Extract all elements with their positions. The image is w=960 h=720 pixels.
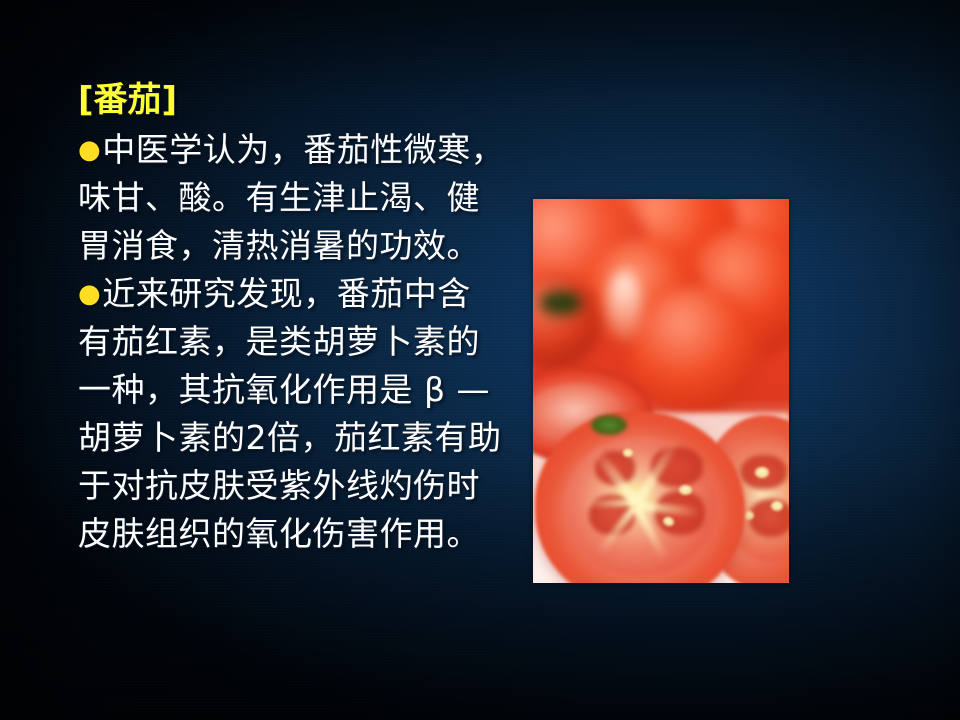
paragraph-1: ●中医学认为，番茄性微寒， 味甘、酸。有生津止渴、健 胃消食，清热消暑的功效。 xyxy=(78,126,498,270)
bullet-icon: ● xyxy=(78,279,101,309)
paragraph-2: ●近来研究发现，番茄中含 有茄红素，是类胡萝卜素的 一种，其抗氧化作用是 β —… xyxy=(78,270,498,558)
paragraph-2-line-1-text: 近来研究发现，番茄中含 xyxy=(102,274,471,313)
paragraph-1-line-1: ●中医学认为，番茄性微寒， xyxy=(78,126,498,174)
slide-canvas: [番茄] ●中医学认为，番茄性微寒， 味甘、酸。有生津止渴、健 胃消食，清热消暑… xyxy=(0,0,960,720)
slide-text-block: [番茄] ●中医学认为，番茄性微寒， 味甘、酸。有生津止渴、健 胃消食，清热消暑… xyxy=(78,78,498,558)
paragraph-2-line-6: 皮肤组织的氧化伤害作用。 xyxy=(78,510,498,558)
tomato-seed xyxy=(679,485,692,495)
tomato-seed xyxy=(755,467,769,478)
tomato-seed xyxy=(771,501,783,511)
paragraph-1-line-1-text: 中医学认为，番茄性微寒， xyxy=(102,130,504,169)
paragraph-1-line-3: 胃消食，清热消暑的功效。 xyxy=(78,222,498,270)
tomato-stem xyxy=(539,291,583,315)
tomato-stem xyxy=(591,415,627,435)
photo-highlight xyxy=(607,271,641,341)
paragraph-2-line-5: 于对抗皮肤受紫外线灼伤时 xyxy=(78,462,498,510)
bullet-icon: ● xyxy=(78,135,101,165)
paragraph-2-line-1: ●近来研究发现，番茄中含 xyxy=(78,270,498,318)
page-title: [番茄] xyxy=(78,78,498,122)
paragraph-2-line-3: 一种，其抗氧化作用是 β — xyxy=(78,366,498,414)
tomato-locule xyxy=(749,499,789,537)
tomato-photo xyxy=(533,199,789,583)
paragraph-2-line-4: 胡萝卜素的2倍，茄红素有助 xyxy=(78,414,498,462)
paragraph-2-line-2: 有茄红素，是类胡萝卜素的 xyxy=(78,318,498,366)
paragraph-1-line-2: 味甘、酸。有生津止渴、健 xyxy=(78,174,498,222)
tomato-seed xyxy=(623,449,633,457)
